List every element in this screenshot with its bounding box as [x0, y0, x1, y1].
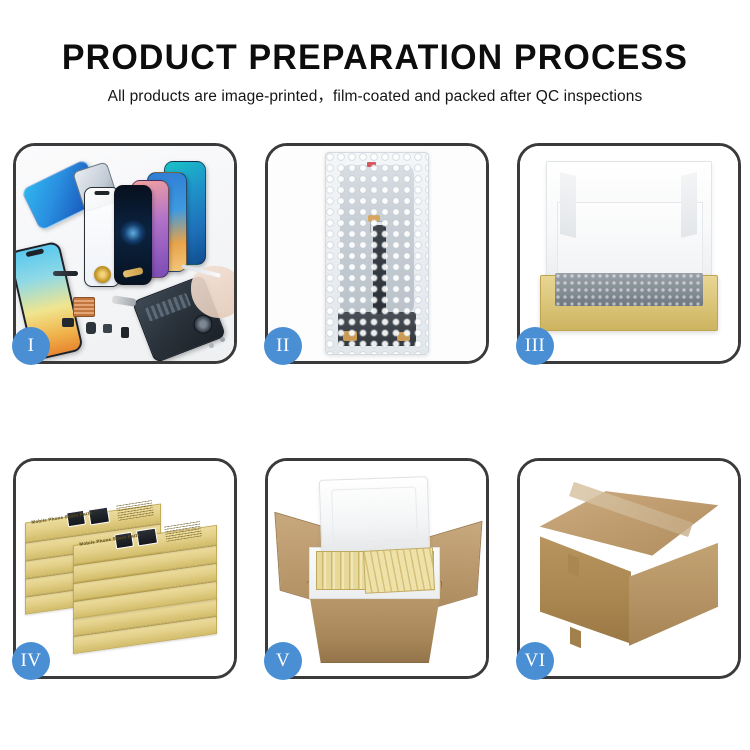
step-3-image-frame — [520, 146, 738, 361]
kraft-tray — [540, 275, 719, 331]
photo-phone-screens-and-spare-parts — [16, 146, 234, 361]
step-panel-4: Mobile Phone Spare Parts Mobile Phone Sp… — [13, 458, 237, 679]
step-badge-3: III — [516, 327, 554, 365]
box-artwork-screen — [88, 506, 110, 525]
red-marker-sticker — [367, 162, 376, 167]
photo-carton-with-styrofoam-liner — [268, 461, 486, 676]
step-badge-5: V — [264, 642, 302, 680]
foam-lid-flap-right — [681, 172, 697, 238]
process-steps-grid: I II — [13, 143, 740, 679]
step-4-image-frame: Mobile Phone Spare Parts Mobile Phone Sp… — [16, 461, 234, 676]
packed-boxes-row-2 — [363, 547, 435, 594]
screen-base-flex — [338, 312, 416, 346]
step-panel-6: VI — [517, 458, 741, 679]
photo-bubble-wrapped-screen — [268, 146, 486, 361]
chip-component-3 — [103, 324, 112, 333]
screen-flex-cable — [373, 225, 386, 313]
step-badge-2: II — [264, 327, 302, 365]
photo-open-kraft-box-with-foam — [520, 146, 738, 361]
chip-component-2 — [86, 322, 96, 334]
page-title: PRODUCT PREPARATION PROCESS — [11, 38, 739, 78]
bubble-wrap-bag — [325, 152, 429, 354]
foam-lid-flap-left — [560, 172, 576, 238]
grey-foam-padding — [555, 273, 703, 306]
speaker-component — [53, 271, 78, 276]
step-2-image-frame — [268, 146, 486, 361]
step-panel-2: II — [265, 143, 489, 364]
step-badge-1: I — [12, 327, 50, 365]
chip-component-1 — [62, 318, 74, 327]
step-1-image-frame — [16, 146, 234, 361]
flex-cable-silver — [111, 295, 136, 307]
carton-seam-upper — [568, 553, 579, 577]
screw-1 — [220, 337, 225, 342]
product-preparation-infographic: PRODUCT PREPARATION PROCESS All products… — [0, 0, 750, 750]
step-badge-6: VI — [516, 642, 554, 680]
header: PRODUCT PREPARATION PROCESS All products… — [0, 38, 750, 106]
photo-sealed-shipping-carton — [520, 461, 738, 676]
step-6-image-frame — [520, 461, 738, 676]
carton-side-face — [629, 543, 718, 646]
styrofoam-lid — [319, 476, 430, 553]
photo-stacked-printed-boxes: Mobile Phone Spare Parts Mobile Phone Sp… — [16, 461, 234, 676]
screw-2 — [209, 343, 214, 348]
copper-grid-component — [73, 297, 95, 317]
chip-component-4 — [121, 327, 129, 338]
step-panel-5: V — [265, 458, 489, 679]
step-badge-4: IV — [12, 642, 50, 680]
page-subtitle: All products are image-printed，film-coat… — [0, 87, 750, 106]
box-stack: Mobile Phone Spare Parts Mobile Phone Sp… — [25, 474, 226, 672]
white-foam-lid — [546, 161, 712, 281]
step-panel-3: III — [517, 143, 741, 364]
step-panel-1: I — [13, 143, 237, 364]
carton-front-face — [540, 536, 632, 644]
carton-seam-lower — [570, 627, 581, 649]
step-5-image-frame — [268, 461, 486, 676]
